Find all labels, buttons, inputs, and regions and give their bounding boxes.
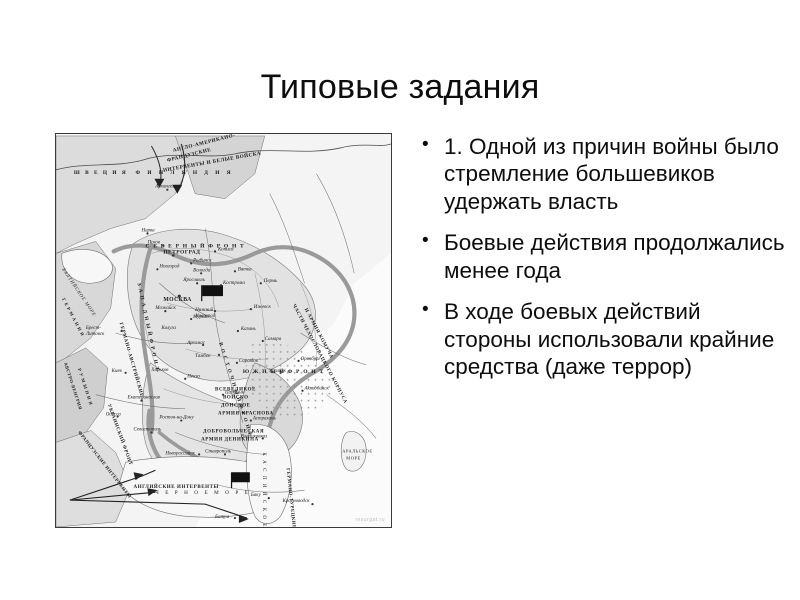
svg-text:Самара: Самара [265, 337, 282, 342]
svg-text:Литовск: Литовск [85, 332, 105, 337]
list-item: • 1. Одной из причин войны было стремлен… [418, 133, 790, 215]
list-item-text: 1. Одной из причин войны было стремление… [444, 134, 779, 214]
map-watermark: resurgat.ru [355, 517, 385, 523]
svg-text:Ф И Н Л Я Н Д И Я: Ф И Н Л Я Н Д И Я [136, 170, 234, 176]
svg-text:Оренбург: Оренбург [301, 357, 321, 362]
presentation-slide: Типовые задания [0, 0, 800, 600]
svg-text:МОСКВА: МОСКВА [163, 297, 192, 303]
svg-text:Уральск: Уральск [269, 369, 287, 374]
svg-text:Арзамас: Арзамас [186, 341, 206, 346]
svg-text:Царицын: Царицын [224, 391, 245, 396]
svg-text:Пенза: Пенза [186, 375, 200, 380]
svg-text:АРАЛЬСКОЕ: АРАЛЬСКОЕ [342, 448, 372, 453]
svg-text:Псков: Псков [146, 240, 160, 245]
svg-text:Пермь: Пермь [263, 279, 278, 284]
svg-text:ДОНСКОЕ: ДОНСКОЕ [221, 404, 251, 409]
svg-text:К А С П И Й С К О Е М О Р Е: К А С П И Й С К О Е М О Р Е [261, 452, 267, 527]
svg-text:Астрахань: Астрахань [252, 417, 277, 422]
svg-text:Красноводск: Красноводск [282, 499, 311, 504]
svg-text:Вологда: Вологда [193, 268, 211, 273]
svg-text:Котлас: Котлас [217, 247, 235, 252]
svg-text:Екатеринослав: Екатеринослав [127, 396, 161, 401]
svg-text:Нарва: Нарва [140, 229, 155, 234]
list-item-text: В ходе боевых действий стороны использов… [444, 299, 774, 379]
svg-text:Ш В Е Ц И Я: Ш В Е Ц И Я [74, 170, 128, 176]
svg-text:Киев: Киев [111, 369, 123, 374]
content-bullet-list: • 1. Одной из причин войны было стремлен… [418, 133, 790, 395]
svg-text:Ставрополь: Ставрополь [205, 449, 232, 454]
svg-text:Владикавказ: Владикавказ [241, 434, 267, 439]
svg-text:Ростов-на-Дону: Ростов-на-Дону [158, 416, 194, 421]
page-title: Типовые задания [0, 69, 800, 106]
svg-text:Ижевск: Ижевск [253, 305, 272, 310]
svg-text:Муром: Муром [192, 315, 208, 320]
svg-text:Батум: Батум [214, 515, 230, 520]
list-item: • Боевые действия продолжались менее год… [418, 229, 790, 284]
svg-text:Нижний: Нижний [194, 307, 214, 313]
svg-text:МОРЕ: МОРЕ [346, 455, 360, 460]
svg-text:Кострома: Кострома [222, 281, 245, 286]
svg-text:Новгород: Новгород [158, 264, 180, 269]
svg-text:Вятка: Вятка [238, 267, 252, 272]
svg-text:Баку: Баку [250, 493, 262, 498]
svg-text:Одесса: Одесса [106, 413, 122, 418]
svg-text:Ярославль: Ярославль [182, 278, 205, 283]
list-item: • В ходе боевых действий стороны использ… [418, 298, 790, 380]
svg-text:Калуга: Калуга [160, 326, 176, 331]
svg-text:Брест-: Брест- [85, 326, 101, 331]
svg-text:Новороссийск: Новороссийск [164, 450, 195, 456]
svg-text:Саратов: Саратов [239, 359, 259, 364]
svg-text:Тамбов: Тамбов [195, 354, 211, 359]
map-graphic: АНГЛО-АМЕРИКАНО- ФРАНЦУЗСКИЕ ИНТЕРВЕНТЫ … [56, 134, 391, 527]
svg-text:Севастополь: Севастополь [134, 427, 162, 432]
civil-war-map-image[interactable]: АНГЛО-АМЕРИКАНО- ФРАНЦУЗСКИЕ ИНТЕРВЕНТЫ … [55, 133, 392, 528]
svg-text:Архангельск: Архангельск [154, 185, 181, 190]
bullet-marker: • [422, 133, 429, 158]
svg-text:Казань: Казань [240, 327, 257, 332]
svg-text:Рыбинск: Рыбинск [192, 258, 212, 263]
svg-text:Можайск: Можайск [154, 305, 176, 311]
list-item-text: Боевые действия продолжались менее года [444, 230, 785, 282]
svg-text:Актюбинск: Актюбинск [304, 387, 330, 392]
bullet-marker: • [422, 229, 429, 254]
svg-text:Ч Е Р Н О Е М О Р Е: Ч Е Р Н О Е М О Р Е [155, 490, 250, 496]
svg-text:ПЕТРОГРАД: ПЕТРОГРАД [163, 249, 200, 255]
svg-text:Харьков: Харьков [150, 368, 169, 373]
bullet-marker: • [422, 298, 429, 323]
